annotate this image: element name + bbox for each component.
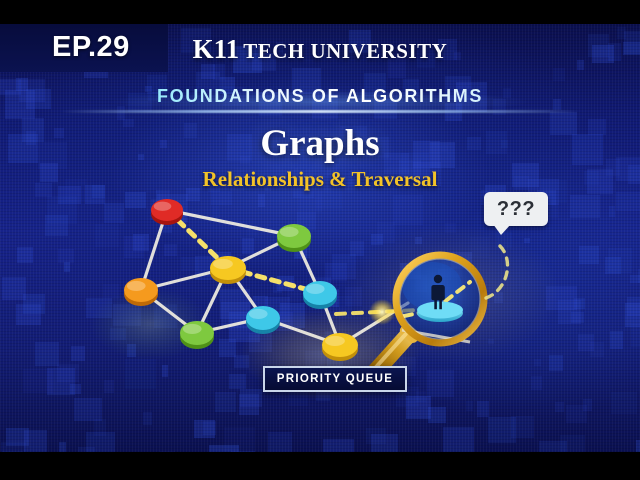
node-orange-left [124, 278, 158, 306]
question-bubble: ??? [484, 192, 548, 226]
letterbox-top [0, 0, 640, 24]
node-yellow-bottom [322, 333, 358, 361]
node-red [151, 199, 183, 225]
node-green-bottom [180, 321, 214, 349]
priority-queue-chip: PRIORITY QUEUE [263, 366, 407, 392]
node-green-top [277, 224, 311, 252]
node-yellow-center [210, 256, 246, 284]
video-thumbnail: EP.29 K11 TECH UNIVERSITY FOUNDATIONS OF… [0, 0, 640, 480]
letterbox-bottom [0, 452, 640, 480]
question-bubble-label: ??? [497, 199, 535, 219]
graph-edge [167, 210, 294, 236]
node-cyan-right [303, 281, 337, 309]
traversal-glow-dot [369, 299, 395, 325]
node-cyan-mid [246, 306, 280, 334]
priority-queue-label: PRIORITY QUEUE [277, 373, 393, 385]
